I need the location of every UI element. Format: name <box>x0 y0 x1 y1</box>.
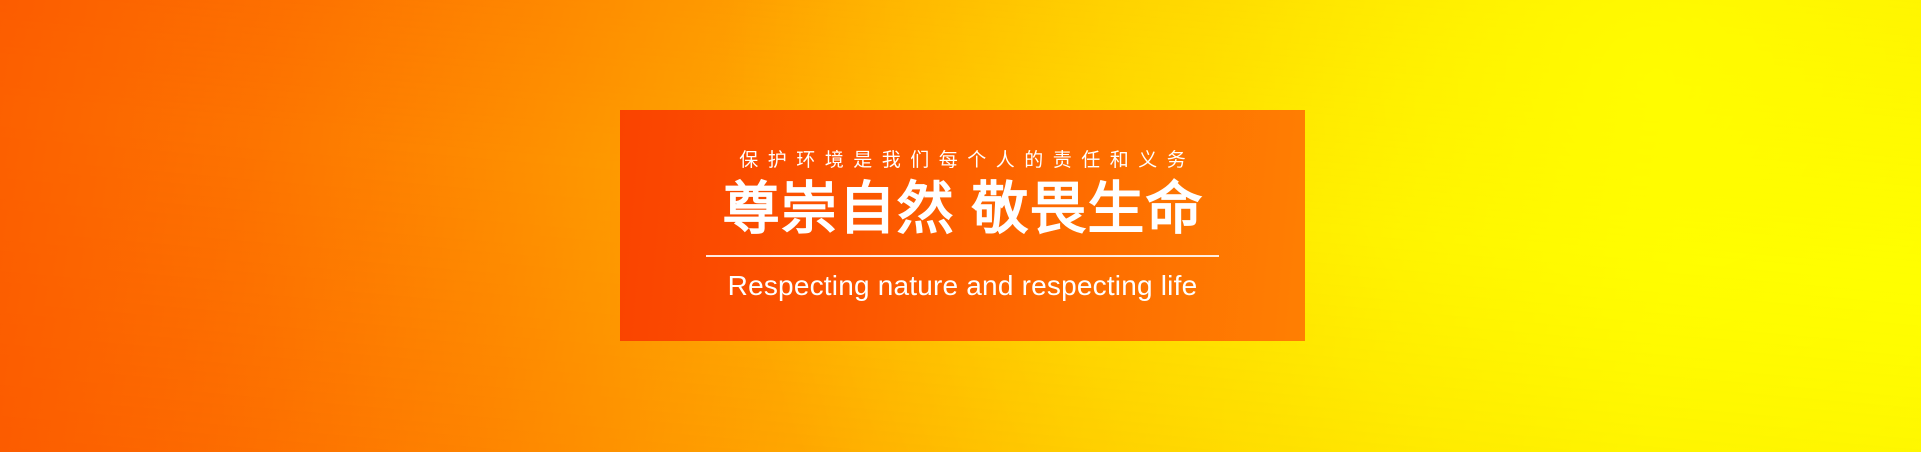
panel-subline: Respecting nature and respecting life <box>728 272 1198 300</box>
panel-headline: 尊崇自然 敬畏生命 <box>722 181 1204 238</box>
panel-divider <box>706 255 1219 257</box>
message-panel: 保护环境是我们每个人的责任和义务 尊崇自然 敬畏生命 Respecting na… <box>620 110 1305 341</box>
banner-stage: 保护环境是我们每个人的责任和义务 尊崇自然 敬畏生命 Respecting na… <box>0 0 1921 452</box>
panel-tagline: 保护环境是我们每个人的责任和义务 <box>730 151 1196 170</box>
